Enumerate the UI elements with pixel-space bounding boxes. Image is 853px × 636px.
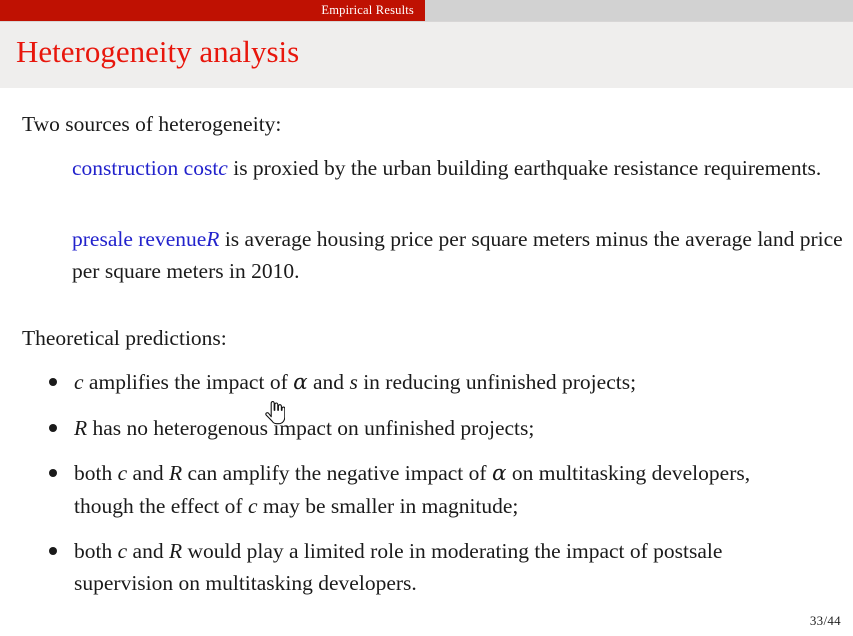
nav-section-label: Empirical Results <box>321 4 414 17</box>
source-1-symbol: c <box>218 156 228 180</box>
nav-section-empirical-results[interactable]: Empirical Results <box>0 0 425 21</box>
predictions-heading: Theoretical predictions: <box>22 328 227 350</box>
navigation-bar: Empirical Results <box>0 0 853 21</box>
list-item: R has no heterogenous impact on unfinish… <box>46 412 814 444</box>
bullet-3-part-3: can amplify the negative impact of <box>182 461 492 485</box>
bullet-1-part-3: and <box>308 370 350 394</box>
bullet-2-symbol-1: R <box>74 416 87 440</box>
bullet-3-part-2: and <box>127 461 169 485</box>
bullet-4-part-1: both <box>74 539 118 563</box>
bullet-dot-icon <box>49 547 57 555</box>
bullet-dot-icon <box>49 378 57 386</box>
bullet-4-symbol-1: c <box>118 539 128 563</box>
list-item: both c and R would play a limited role i… <box>46 535 814 599</box>
nav-inactive-region[interactable] <box>425 0 853 21</box>
bullet-3-symbol-1: c <box>118 461 128 485</box>
bullet-1-symbol-3: s <box>349 370 357 394</box>
bullet-2-part-2: has no heterogenous impact on unfinished… <box>87 416 534 440</box>
slide-content: Two sources of heterogeneity: constructi… <box>0 88 853 636</box>
source-2-symbol: R <box>206 227 219 251</box>
list-item: both c and R can amplify the negative im… <box>46 457 814 522</box>
bullet-3-symbol-2: R <box>169 461 182 485</box>
sources-heading: Two sources of heterogeneity: <box>22 114 281 136</box>
bullet-3-symbol-3: α <box>492 461 507 486</box>
bullet-1-part-4: in reducing unfinished projects; <box>358 370 636 394</box>
bullet-4-symbol-2: R <box>169 539 182 563</box>
bullet-1-part-2: amplifies the impact of <box>84 370 294 394</box>
bullet-3-part-5: may be smaller in magnitude; <box>257 494 518 518</box>
bullet-1-symbol-2: α <box>293 370 308 395</box>
page-number: 33/44 <box>810 613 841 629</box>
bullet-dot-icon <box>49 424 57 432</box>
page-title: Heterogeneity analysis <box>16 36 299 67</box>
source-1-label: construction cost <box>72 156 218 180</box>
bullet-dot-icon <box>49 469 57 477</box>
source-item-construction-cost: construction costc is proxied by the urb… <box>72 152 847 184</box>
list-item: c amplifies the impact of α and s in red… <box>46 366 814 399</box>
bullet-1-symbol-1: c <box>74 370 84 394</box>
source-2-label: presale revenue <box>72 227 206 251</box>
frame-title-band: Heterogeneity analysis <box>0 21 853 89</box>
source-item-presale-revenue: presale revenueR is average housing pric… <box>72 223 847 287</box>
bullet-3-part-1: both <box>74 461 118 485</box>
predictions-list: c amplifies the impact of α and s in red… <box>46 366 846 612</box>
bullet-4-part-2: and <box>127 539 169 563</box>
source-1-text: is proxied by the urban building earthqu… <box>228 156 821 180</box>
